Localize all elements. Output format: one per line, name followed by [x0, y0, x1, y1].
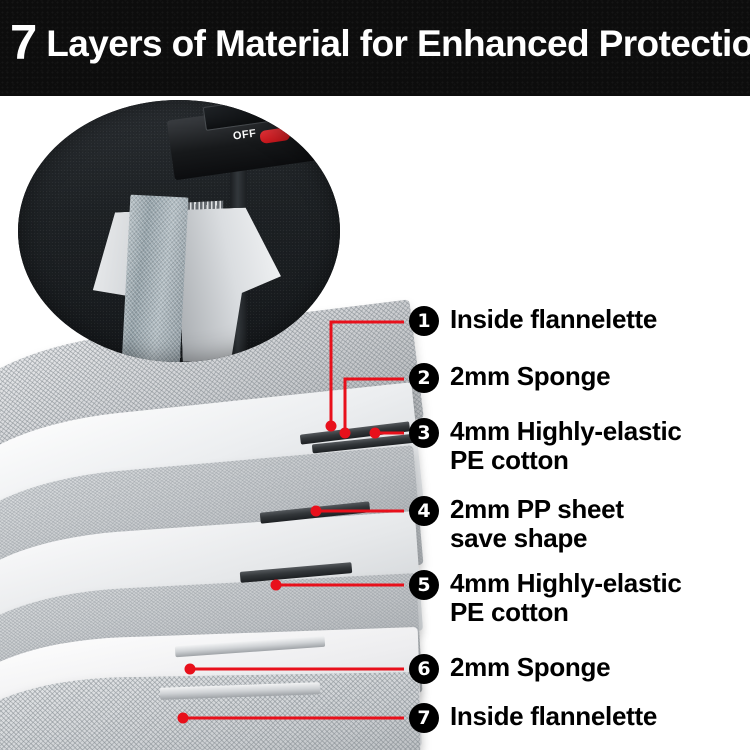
- callout-label-2: 2mm Sponge: [450, 362, 610, 391]
- callout-badge-1: 1: [409, 306, 439, 336]
- callout-label-5: 4mm Highly-elastic PE cotton: [450, 569, 682, 627]
- callout-badge-2: 2: [409, 363, 439, 393]
- callout-3[interactable]: 3 4mm Highly-elastic PE cotton: [409, 418, 682, 475]
- callout-badge-6: 6: [409, 654, 439, 684]
- infographic-page: 7 Layers of Material for Enhanced Protec…: [0, 0, 750, 750]
- callout-label-6: 2mm Sponge: [450, 653, 610, 682]
- callout-badge-4: 4: [409, 496, 439, 526]
- callout-label-3: 4mm Highly-elastic PE cotton: [450, 417, 682, 475]
- callout-6[interactable]: 6 2mm Sponge: [409, 654, 610, 684]
- callout-4[interactable]: 4 2mm PP sheet save shape: [409, 496, 624, 553]
- callout-7[interactable]: 7 Inside flannelette: [409, 703, 657, 733]
- callout-5[interactable]: 5 4mm Highly-elastic PE cotton: [409, 570, 682, 627]
- callout-2[interactable]: 2 2mm Sponge: [409, 363, 610, 393]
- callout-badge-3: 3: [409, 418, 439, 448]
- callout-badge-7: 7: [409, 703, 439, 733]
- callout-label-1: Inside flannelette: [450, 305, 657, 334]
- callout-list: 1 Inside flannelette 2 2mm Sponge 3 4mm …: [0, 0, 750, 750]
- callout-1[interactable]: 1 Inside flannelette: [409, 306, 657, 336]
- callout-label-4: 2mm PP sheet save shape: [450, 495, 624, 553]
- callout-label-7: Inside flannelette: [450, 702, 657, 731]
- callout-badge-5: 5: [409, 570, 439, 600]
